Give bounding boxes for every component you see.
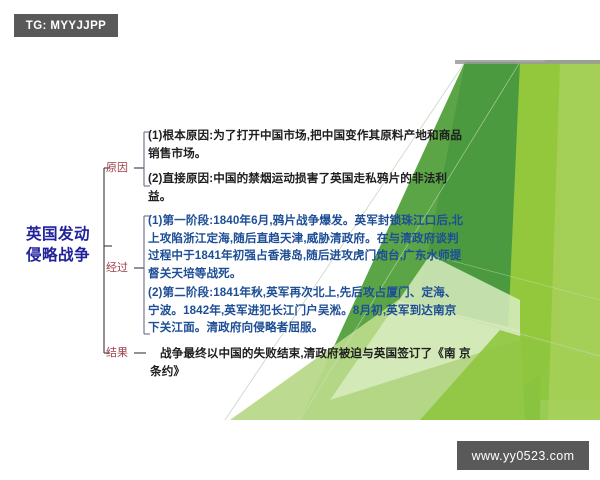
root-node-line1: 英国发动: [12, 224, 104, 245]
course-item-2: (2)第二阶段:1841年秋,英军再次北上,先后攻占厦门、定海、宁波。1842年…: [148, 284, 468, 337]
branch-label-result: 结果: [106, 347, 128, 360]
branch-label-course: 经过: [106, 262, 128, 275]
cause-item-2: (2)直接原因:中国的禁烟运动损害了英国走私鸦片的非法利益。: [148, 170, 468, 205]
watermark-top-left: TG: MYYJJPP: [14, 14, 118, 37]
mindmap-root-node: 英国发动 侵略战争: [12, 224, 104, 266]
branch-label-cause: 原因: [106, 162, 128, 175]
presentation-slide: 英国发动 侵略战争 原因 经过 结果 (1)根本原因:为了打开中国市场,把中国变…: [0, 0, 600, 480]
cause-item-1: (1)根本原因:为了打开中国市场,把中国变作其原料产地和商品销售市场。: [148, 127, 468, 162]
course-item-1: (1)第一阶段:1840年6月,鸦片战争爆发。英军封锁珠江口后,北上攻陷浙江定海…: [148, 212, 468, 282]
watermark-bottom-right: www.yy0523.com: [457, 441, 589, 470]
root-node-line2: 侵略战争: [12, 245, 104, 266]
result-item-1: 战争最终以中国的失败结束,清政府被迫与英国签订了《南 京条约》: [150, 345, 480, 380]
